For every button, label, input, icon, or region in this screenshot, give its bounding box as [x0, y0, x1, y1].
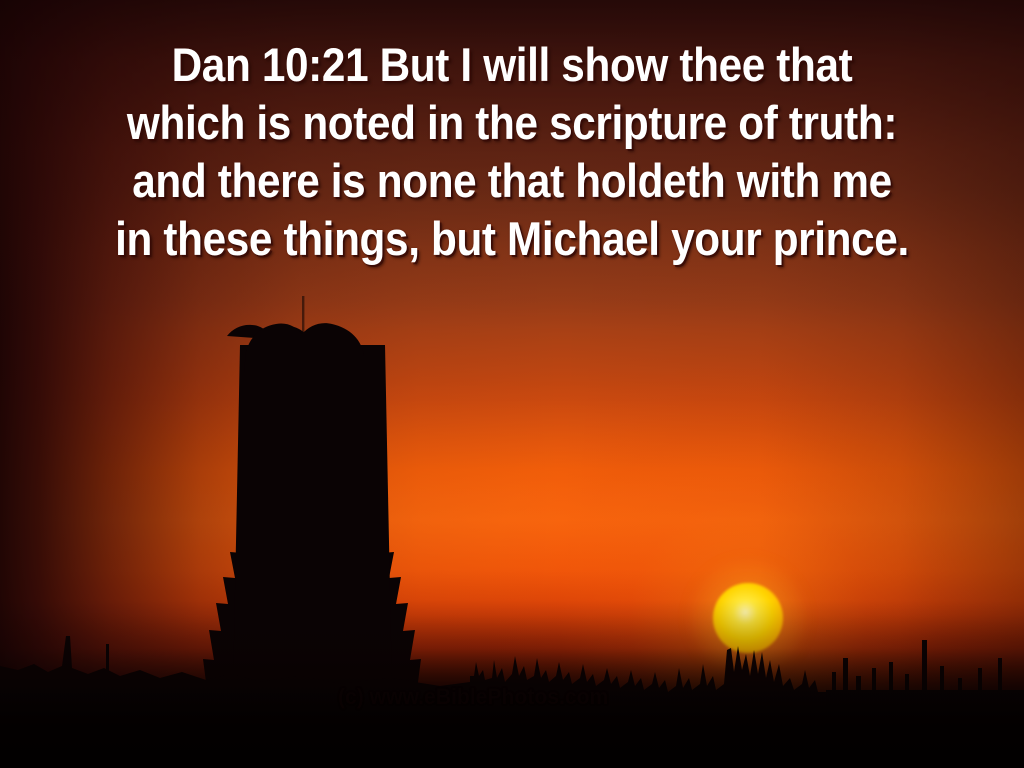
verse-line-3: and there is none that holdeth with me: [51, 152, 973, 210]
scripture-image: Dan 10:21 But I will show thee that whic…: [0, 0, 1024, 768]
verse-line-1: Dan 10:21 But I will show thee that: [51, 36, 973, 94]
verse-line-4: in these things, but Michael your prince…: [51, 210, 973, 268]
verse-text-block: Dan 10:21 But I will show thee that whic…: [0, 36, 1024, 268]
watermark-text: (c) www.eBiblePhotos.com: [338, 684, 608, 710]
verse-line-2: which is noted in the scripture of truth…: [51, 94, 973, 152]
